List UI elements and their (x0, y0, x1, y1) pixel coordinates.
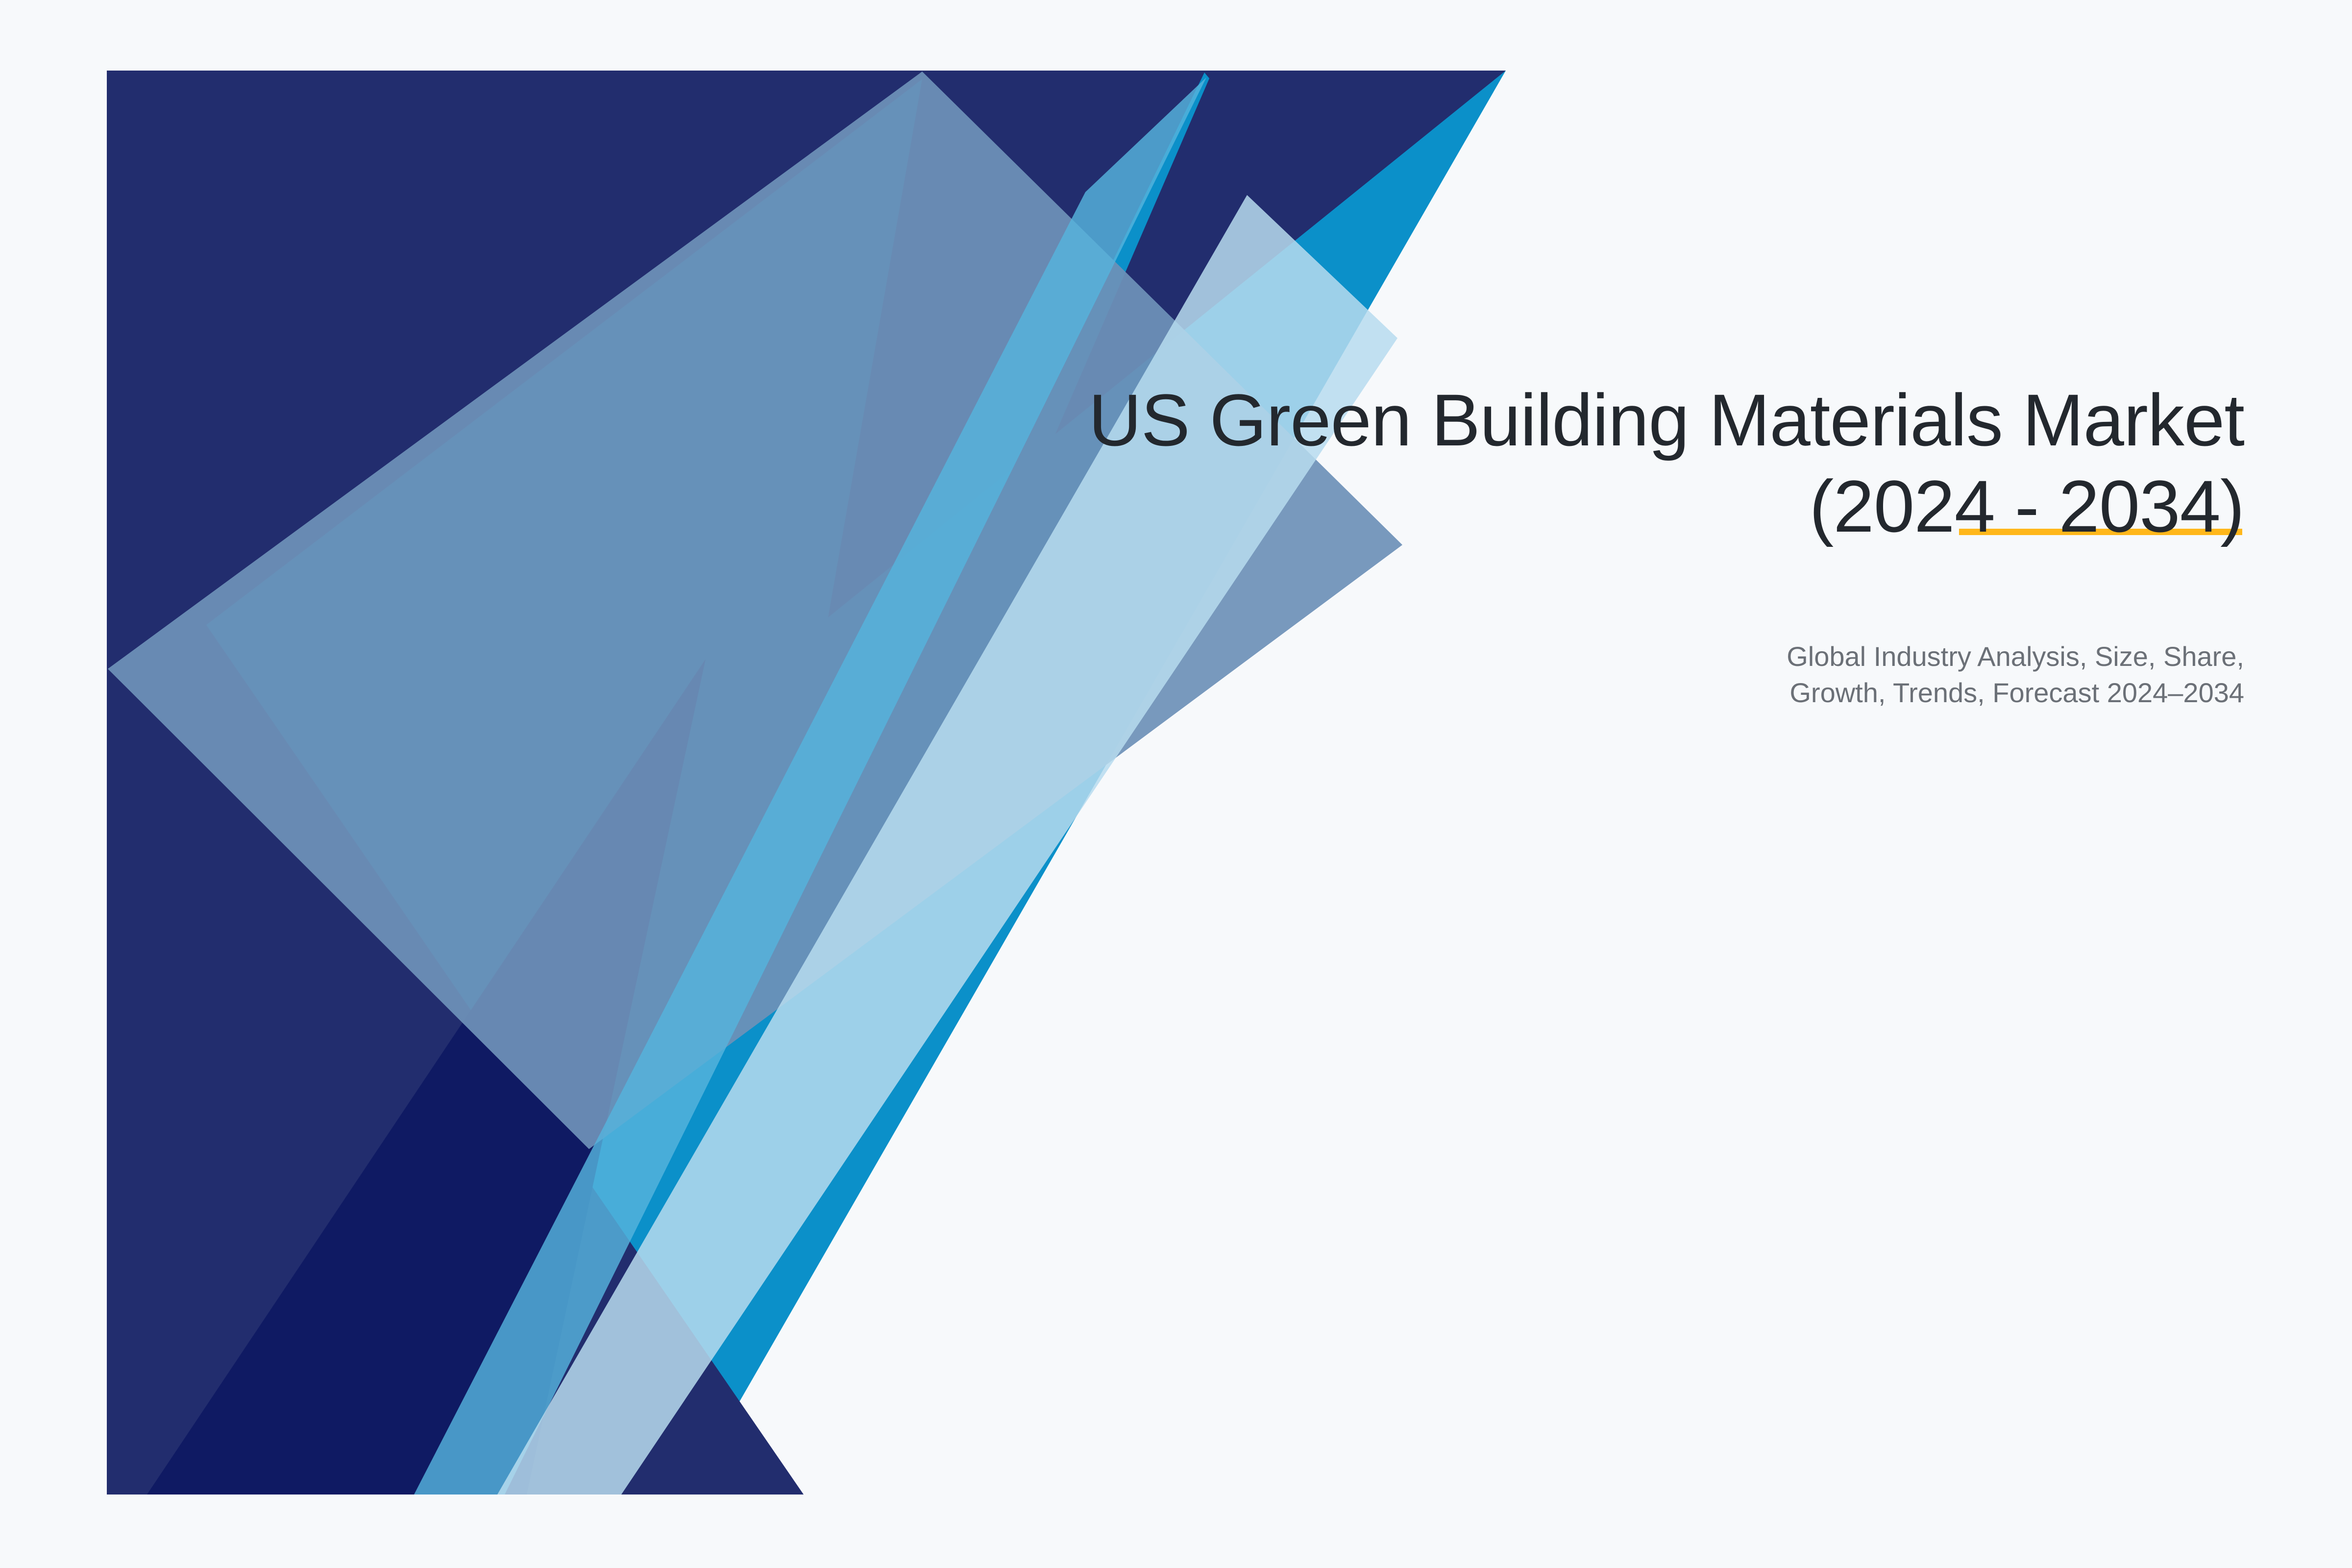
page-subtitle: Global Industry Analysis, Size, Share, G… (490, 638, 2244, 711)
page-title: US Green Building Materials Market (2024… (490, 377, 2244, 549)
cover-artwork (0, 0, 2352, 1568)
title-block: US Green Building Materials Market (2024… (490, 377, 2244, 711)
